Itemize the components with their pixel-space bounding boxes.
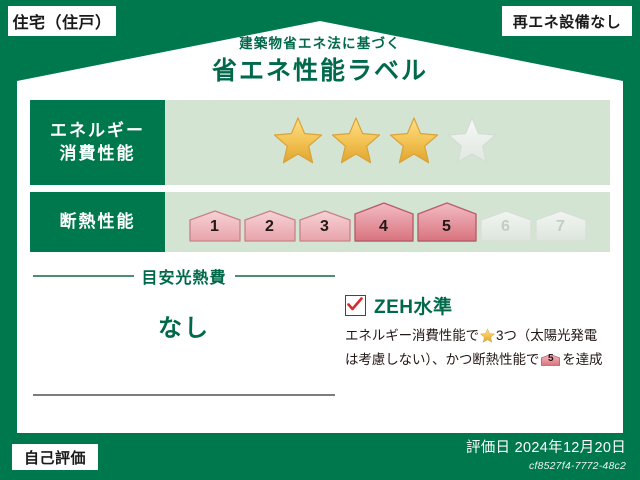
title-subtitle: 建築物省エネ法に基づく [0,36,640,52]
grade-badge-3-value: 3 [299,218,351,236]
star-icon-inline [480,331,495,346]
star-icon-empty-4 [447,116,497,169]
zeh-desc-part3: を達成 [562,352,602,367]
grade-badge-7: 7 [535,210,587,242]
zeh-description: エネルギー消費性能で3つ（太陽光発電は考慮しない）、かつ断熱性能で5を達成 [345,325,613,371]
grade-badge-7-value: 7 [535,218,587,236]
grade-badge-1: 1 [189,210,241,242]
utility-cost-divider: 目安光熱費 [33,264,335,288]
tag-self-evaluation-label: 自己評価 [24,447,86,468]
grade-badge-inline: 5 [541,353,560,367]
zeh-block: ZEH水準 エネルギー消費性能で3つ（太陽光発電は考慮しない）、かつ断熱性能で5… [345,292,613,371]
page-title: 省エネ性能ラベル [0,55,640,89]
grade-badge-2: 2 [244,210,296,242]
zeh-title: ZEH水準 [374,292,453,319]
star-rating [273,116,497,169]
utility-cost-title: 目安光熱費 [142,264,227,288]
zeh-checkbox[interactable] [345,295,366,316]
grade-badge-6: 6 [480,210,532,242]
star-icon-filled-2 [331,116,381,169]
zeh-desc-star-count: 3つ（太陽光発電 [496,328,597,343]
insulation-grade-scale: 1 2 3 [189,202,587,242]
row-insulation-key: 断熱性能 [30,192,165,252]
divider-line-right [235,275,336,277]
row-insulation-value: 1 2 3 [165,192,610,252]
utility-cost-value: なし [33,308,335,343]
evaluation-date: 評価日 2024年12月20日 [466,436,626,457]
row-energy-label-line1: エネルギー [50,120,145,143]
utility-cost-underline [33,394,335,396]
energy-performance-label: 住宅（住戸） 再エネ設備なし 自己評価 建築物省エネ法に基づく 省エネ性能ラベル… [0,0,640,480]
label-identifier: cf8527f4-7772-48c2 [466,460,626,472]
tag-renewable-equipment: 再エネ設備なし [502,6,632,36]
row-energy-performance: エネルギー 消費性能 [30,100,610,185]
grade-badge-4-value: 4 [354,218,414,236]
tag-renewable-label: 再エネ設備なし [513,11,622,32]
panel-row-divider [30,185,610,192]
row-insulation-label: 断熱性能 [60,211,136,234]
performance-panel: エネルギー 消費性能 [30,100,610,252]
grade-badge-5: 5 [417,202,477,242]
zeh-desc-part2: は考慮しない）、かつ断熱性能で [345,352,539,367]
grade-badge-6-value: 6 [480,218,532,236]
label-title-block: 建築物省エネ法に基づく 省エネ性能ラベル [0,36,640,89]
zeh-header: ZEH水準 [345,292,613,319]
grade-badge-3: 3 [299,210,351,242]
grade-badge-4: 4 [354,202,414,242]
grade-badge-5-value: 5 [417,218,477,236]
tag-building-type-label: 住宅（住戸） [12,9,111,33]
grade-badge-2-value: 2 [244,218,296,236]
grade-badge-1-value: 1 [189,218,241,236]
tag-building-type: 住宅（住戸） [8,6,116,36]
zeh-desc-part1: エネルギー消費性能で [345,328,479,343]
divider-line-left [33,275,134,277]
star-icon-filled-3 [389,116,439,169]
row-insulation-performance: 断熱性能 [30,192,610,252]
row-energy-value [165,100,610,185]
tag-self-evaluation: 自己評価 [12,444,98,470]
grade-badge-inline-value: 5 [541,351,560,367]
row-energy-key: エネルギー 消費性能 [30,100,165,185]
star-icon-filled-1 [273,116,323,169]
row-energy-label-line2: 消費性能 [60,143,136,166]
footer-metadata: 評価日 2024年12月20日 cf8527f4-7772-48c2 [466,436,626,472]
